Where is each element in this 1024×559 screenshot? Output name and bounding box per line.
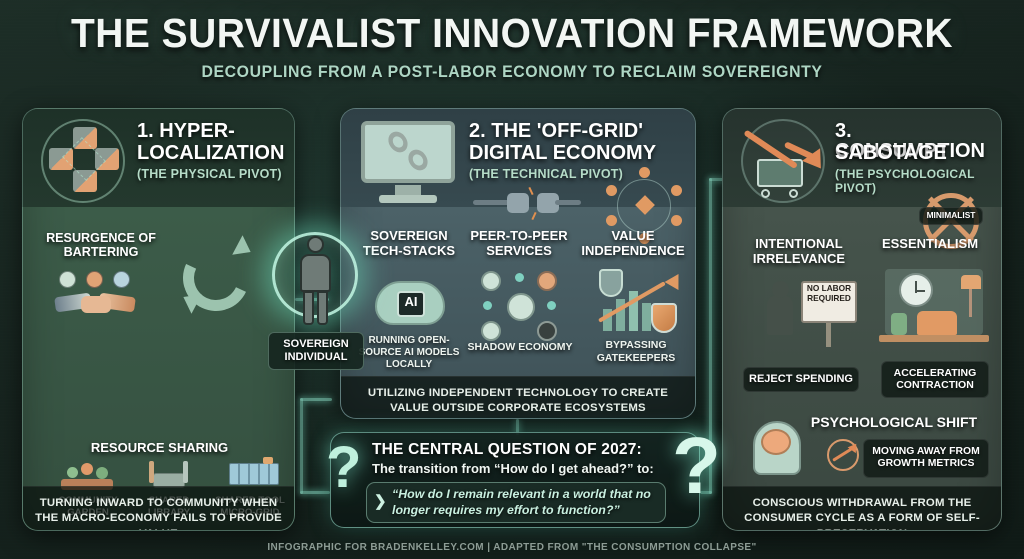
pillar-1-number-line2: LOCALIZATION [137,143,284,163]
shift-caption-growth-metrics: MOVING AWAY FROM GROWTH METRICS [863,439,989,478]
column-caption-bypassing-gatekeepers: BYPASSING GATEKEEPERS [581,339,691,364]
page-subtitle: DECOUPLING FROM A POST-LABOR ECONOMY TO … [20,63,1003,82]
recycle-arrows-icon [173,239,259,321]
column-label-intentional-irrelevance: INTENTIONAL IRRELEVANCE [733,237,865,266]
pillar-card-consumption-sabotage[interactable]: 3. CONSUMPTION SABOTAGE (THE PSYCHOLOGIC… [722,108,1002,531]
sovereign-individual-label: SOVEREIGN INDIVIDUAL [268,332,364,370]
minimal-room-icon [875,269,991,355]
column-caption-reject-spending: REJECT SPENDING [743,367,859,392]
connector-question-to-left [300,398,303,494]
growth-metrics-icon [827,439,859,471]
sovereign-individual[interactable]: SOVEREIGN INDIVIDUAL [262,228,382,373]
pillar-2-number-line2: DIGITAL ECONOMY [469,143,656,163]
pillar-3-subtitle: (THE PSYCHOLOGICAL PIVOT) [835,167,1001,195]
central-question-quote: “How do I remain relevant in a world tha… [392,487,664,519]
minimalist-badge-label: MINIMALIST [919,207,983,225]
ai-brain-chip-icon: AI [375,277,445,329]
page-title: THE SURVIVALIST INNOVATION FRAMEWORK [26,10,999,57]
pillar-1-subtitle: (THE PHYSICAL PIVOT) [137,167,282,181]
column-label-essentialism: ESSENTIALISM [863,237,997,252]
p2p-network-icon [481,271,557,343]
unplugged-plug-icon [471,185,581,221]
header: THE SURVIVALIST INNOVATION FRAMEWORK DEC… [0,10,1024,82]
person-silhouette-icon [296,236,334,326]
cart-down-arrow-icon [737,115,831,207]
pillar-1-footer: TURNING INWARD TO COMMUNITY WHEN THE MAC… [23,486,294,530]
pillar-3-footer: CONSCIOUS WITHDRAWAL FROM THE CONSUMER C… [723,486,1001,530]
column-caption-accelerating-contraction: ACCELERATING CONTRACTION [881,361,989,398]
handshake-icon [53,271,153,317]
column-label-peer-to-peer: PEER-TO-PEER SERVICES [457,229,581,258]
pillar-1-number: 1. HYPER- [137,121,235,141]
pillar-3-number-line2: SABOTAGE [835,143,947,163]
monitor-broken-chain-icon [357,119,461,207]
brain-head-icon [747,417,809,479]
chevron-right-icon: ❯ [374,492,387,510]
feature-label-resource-sharing: RESOURCE SHARING [23,441,295,456]
no-labor-sign-text: NO LABOR REQUIRED [801,283,857,304]
feature-label-bartering: RESURGENCE OF BARTERING [31,231,171,259]
central-question-title: THE CENTRAL QUESTION OF 2027: [372,441,642,459]
pillar-2-number: 2. THE 'OFF-GRID' [469,121,643,141]
pillar-card-hyper-localization[interactable]: 1. HYPER- LOCALIZATION (THE PHYSICAL PIV… [22,108,295,531]
column-label-value-independence: VALUE INDEPENDENCE [571,229,695,258]
question-mark-right-icon: ? [672,420,721,512]
connector-question-to-left-arm [300,398,332,401]
column-caption-shadow-economy: SHADOW ECONOMY [465,341,575,354]
question-mark-left-icon: ? [326,434,361,501]
connected-houses-icon [37,117,129,205]
shield-check-icon [599,269,623,297]
pillar-card-off-grid-digital-economy[interactable]: 2. THE 'OFF-GRID' DIGITAL ECONOMY (THE T… [340,108,696,419]
shift-label-psychological-shift: PSYCHOLOGICAL SHIFT [799,415,989,431]
footer-credit: INFOGRAPHIC FOR BRADENKELLEY.COM | ADAPT… [0,542,1024,553]
growth-chart-shield-icon [589,269,685,335]
central-question-lead: The transition from “How do I get ahead?… [372,461,654,476]
shield-orange-icon [651,303,677,333]
pillar-2-subtitle: (THE TECHNICAL PIVOT) [469,167,623,181]
pillar-2-footer: UTILIZING INDEPENDENT TECHNOLOGY TO CREA… [341,376,695,418]
